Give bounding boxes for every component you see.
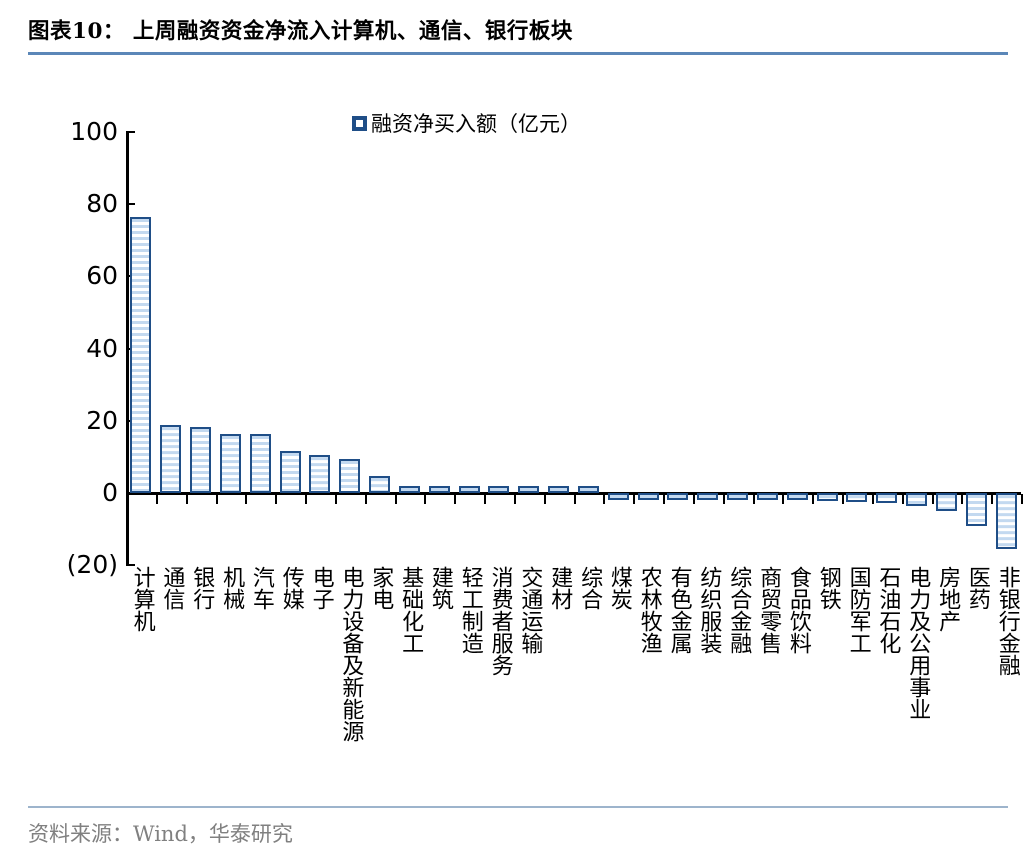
x-axis-category-label: 电子 <box>309 566 332 610</box>
bar <box>369 476 390 493</box>
bar-fill <box>938 495 955 509</box>
bar <box>966 493 987 526</box>
x-axis-category-label: 建材 <box>548 566 571 610</box>
bar <box>399 486 420 493</box>
bar <box>727 493 748 500</box>
bar-fill <box>282 453 299 491</box>
bar <box>936 493 957 511</box>
bar <box>638 493 659 500</box>
page-title: 图表10： 上周融资资金净流入计算机、通信、银行板块 <box>28 14 1008 45</box>
bar <box>309 455 330 493</box>
bar <box>846 493 867 502</box>
x-axis-category-label: 电力及公用事业 <box>906 566 929 720</box>
bar-fill <box>520 488 537 491</box>
bar-fill <box>908 495 925 504</box>
x-axis-category-label: 非银行金融 <box>995 566 1018 676</box>
bar-fill <box>311 457 328 491</box>
bar-fill <box>461 488 478 491</box>
bar-fill <box>968 495 985 524</box>
bar <box>817 493 838 501</box>
bar-fill <box>431 488 448 491</box>
x-axis-category-label: 家电 <box>369 566 392 610</box>
bar-fill <box>252 436 269 491</box>
x-axis-category-label: 通信 <box>160 566 183 610</box>
bar-fill <box>669 495 686 498</box>
bar <box>608 493 629 500</box>
x-axis-category-label: 房地产 <box>935 566 958 632</box>
bar <box>280 451 301 493</box>
bar-fill <box>610 495 627 498</box>
x-axis-category-label: 石油石化 <box>876 566 899 654</box>
bar <box>667 493 688 500</box>
bar <box>697 493 718 500</box>
footer-divider <box>28 806 1008 808</box>
bar <box>160 425 181 493</box>
source-note: 资料来源：Wind，华泰研究 <box>28 818 293 848</box>
x-axis-category-label: 消费者服务 <box>488 566 511 676</box>
bar <box>488 486 509 493</box>
bar-fill <box>222 436 239 491</box>
chart-title-bar: 图表10： 上周融资资金净流入计算机、通信、银行板块 <box>28 14 1008 54</box>
bar <box>548 486 569 493</box>
x-axis-category-label: 建筑 <box>428 566 451 610</box>
bar-fill <box>848 495 865 500</box>
x-axis-category-label: 轻工制造 <box>458 566 481 654</box>
bar-fill <box>729 495 746 498</box>
bar <box>578 486 599 493</box>
bar-fill <box>192 429 209 491</box>
bar <box>757 493 778 500</box>
bar <box>250 434 271 493</box>
bar-fill <box>490 488 507 491</box>
title-divider <box>28 52 1008 55</box>
bar <box>518 486 539 493</box>
x-axis-category-label: 汽车 <box>249 566 272 610</box>
bar-fill <box>699 495 716 498</box>
bar-fill <box>640 495 657 498</box>
x-axis-category-label: 电力设备及新能源 <box>339 566 362 742</box>
bar-fill <box>162 427 179 491</box>
bar-fill <box>341 461 358 491</box>
x-axis-category-label: 综合 <box>577 566 600 610</box>
x-axis-category-label: 计算机 <box>130 566 153 632</box>
x-axis-labels: 计算机通信银行机械汽车传媒电子电力设备及新能源家电基础化工建筑轻工制造消费者服务… <box>0 566 1036 796</box>
x-axis-category-label: 综合金融 <box>727 566 750 654</box>
x-axis-category-label: 银行 <box>190 566 213 610</box>
bar <box>130 217 151 493</box>
bar-fill <box>819 495 836 499</box>
x-axis-category-label: 基础化工 <box>398 566 421 654</box>
bar-fill <box>998 495 1015 547</box>
bar <box>876 493 897 503</box>
bar-fill <box>550 488 567 491</box>
x-axis-category-label: 国防军工 <box>846 566 869 654</box>
bar <box>339 459 360 493</box>
x-axis-category-label: 纺织服装 <box>697 566 720 654</box>
x-axis-category-label: 传媒 <box>279 566 302 610</box>
x-axis-category-label: 食品饮料 <box>786 566 809 654</box>
bar <box>787 493 808 500</box>
bar-fill <box>401 488 418 491</box>
bar <box>429 486 450 493</box>
chart-plot-area: 融资净买入额（亿元） (20)020406080100 计算机通信银行机械汽车传… <box>0 60 1036 800</box>
x-axis-category-label: 煤炭 <box>607 566 630 610</box>
x-axis-category-label: 交通运输 <box>518 566 541 654</box>
x-axis-category-label: 医药 <box>965 566 988 610</box>
bar-fill <box>371 478 388 491</box>
x-axis-category-label: 商贸零售 <box>756 566 779 654</box>
x-axis-category-label: 农林牧渔 <box>637 566 660 654</box>
bar-fill <box>789 495 806 498</box>
bar <box>190 427 211 493</box>
bar-series <box>0 60 1036 580</box>
bar <box>220 434 241 493</box>
bar-fill <box>580 488 597 491</box>
bar-fill <box>759 495 776 498</box>
x-axis-category-label: 机械 <box>219 566 242 610</box>
bar <box>906 493 927 506</box>
x-axis-category-label: 有色金属 <box>667 566 690 654</box>
x-axis-category-label: 钢铁 <box>816 566 839 610</box>
bar-fill <box>132 219 149 491</box>
bar <box>996 493 1017 549</box>
bar-fill <box>878 495 895 501</box>
bar <box>459 486 480 493</box>
